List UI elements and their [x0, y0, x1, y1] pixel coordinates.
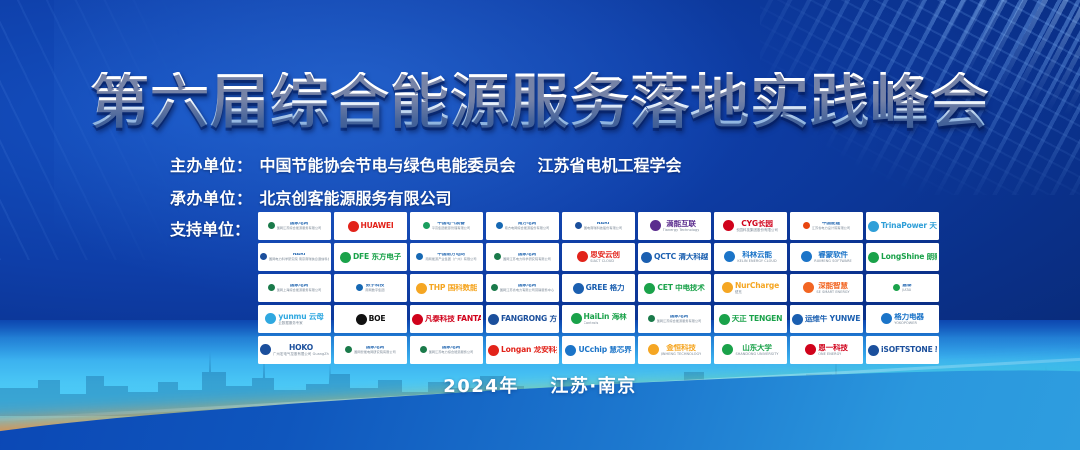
logo-body: 中国能建江苏省电力设计院有限公司 — [812, 222, 850, 231]
logo-name: 运维牛 YUNWEINIU — [805, 315, 861, 323]
logo-mark-icon — [488, 314, 499, 325]
logo-subtitle: 国网江苏电力综合能源服务公司 — [429, 350, 474, 354]
logo-body: 数字科技南网数字集团 — [365, 284, 384, 293]
logo-body: FANGRONG 方融科技 — [501, 315, 557, 323]
logo-body: 恩一科技ONE ENERGY — [818, 344, 848, 356]
logo-inner: 滴能互联Tianergy Technology — [650, 220, 700, 232]
logo-mark-icon — [575, 222, 582, 229]
logo-name: FANGRONG 方融科技 — [501, 315, 557, 323]
logo-name: LongShine 朗新 — [881, 253, 937, 261]
supporter-logo: 深能智慧SE SMART ENERGY — [790, 274, 863, 302]
supporter-logo: 国家电网国网上海综合能源服务有限公司 — [258, 274, 331, 302]
logo-inner: 格力电器YOKOPOWER — [881, 313, 924, 325]
logo-body: DFE 东方电子 — [353, 253, 401, 261]
supporter-logo: UCchip 慧芯界 — [562, 336, 635, 364]
logo-body: 中国电气装备平高集团能源管理有限公司 — [432, 222, 470, 231]
logo-name: 凡泰科技 FANTAI — [425, 315, 481, 323]
page-title: 第六届综合能源服务落地实践峰会 — [90, 72, 990, 131]
logo-body: 国家电网国网江苏电力科学研究院有限公司 — [503, 253, 551, 262]
info-row-values: 北京创客能源服务有限公司 — [260, 185, 452, 209]
logo-name: 科林云能 — [737, 251, 776, 259]
logo-name: 恩一科技 — [818, 344, 848, 352]
supporter-logo: 运维牛 YUNWEINIU — [790, 305, 863, 333]
supporter-logo: GREE 格力 — [562, 274, 635, 302]
logo-inner: THP 国科数能 — [416, 283, 478, 294]
logo-mark-icon — [412, 314, 423, 325]
logo-subtitle: Tianergy Technology — [663, 228, 700, 232]
logo-subtitle: 国电南瑞科技股份有限公司 — [584, 226, 622, 230]
logo-subtitle: SE SMART ENERGY — [816, 290, 849, 294]
logo-inner: 国家电网国网江苏综合能源服务有限公司 — [268, 222, 322, 231]
logo-inner: CYG长园长园科技集团股份有限公司 — [723, 220, 778, 232]
logo-mark-icon — [868, 252, 879, 263]
supporter-logo: NARI国网电力科学研究院 南京南瑞信息通信科技有限公司 — [258, 243, 331, 271]
logo-name: 格力电器 — [894, 313, 924, 321]
logo-body: 凡泰科技 FANTAI — [425, 315, 481, 323]
logo-mark-icon — [420, 346, 427, 353]
logo-name: 金恒科技 — [661, 344, 702, 352]
logo-subtitle: RUIMENG SOFTWARE — [814, 259, 852, 263]
supporter-logo: 山东大学SHANDONG UNIVERSITY — [714, 336, 787, 364]
logo-mark-icon — [868, 345, 879, 356]
logo-mark-icon — [722, 344, 733, 355]
logo-body: 运维牛 YUNWEINIU — [805, 315, 861, 323]
logo-inner: 中国能建江苏省电力设计院有限公司 — [803, 222, 850, 231]
info-row-label: 主办单位： — [170, 152, 253, 176]
logo-subtitle: KELIN ENERGY CLOUD — [737, 259, 776, 263]
logo-inner: HOKO广州宏电气控股有限公司 GuangZhou HOKO Electric … — [260, 344, 329, 356]
logo-mark-icon — [488, 345, 499, 356]
supporter-logo: iSOFTSTONE 软通动力 — [866, 336, 939, 364]
supporter-logo: 中国南方电网南网能源产业集团（广州）有限公司 — [410, 243, 483, 271]
logo-inner: NARI国网电力科学研究院 南京南瑞信息通信科技有限公司 — [260, 253, 329, 262]
logo-name: HOKO — [273, 344, 329, 352]
logo-inner: 数字科技南网数字集团 — [356, 284, 384, 293]
logo-inner: 山东大学SHANDONG UNIVERSITY — [722, 344, 778, 356]
logo-mark-icon — [803, 222, 810, 229]
supporter-logo: HaiLin 海林Controls — [562, 305, 635, 333]
logo-body: HOKO广州宏电气控股有限公司 GuangZhou HOKO Electric … — [273, 344, 329, 356]
logo-mark-icon — [648, 344, 659, 355]
logo-inner: iSOFTSTONE 软通动力 — [868, 345, 937, 356]
supporter-logo: 嘉泰JIATAI — [866, 274, 939, 302]
logo-body: 中国南方电网南网能源产业集团（广州）有限公司 — [425, 253, 476, 262]
logo-body: TrinaPower 天合富家 — [881, 222, 937, 230]
supporter-logo-grid: 国家电网国网江苏综合能源服务有限公司HUAWEI中国电气装备平高集团能源管理有限… — [258, 212, 939, 364]
logo-body: CYG长园长园科技集团股份有限公司 — [736, 220, 778, 232]
logo-name: yunmu 云母 — [278, 313, 323, 321]
logo-inner: HaiLin 海林Controls — [571, 313, 627, 325]
logo-mark-icon — [260, 253, 267, 260]
logo-inner: 天正 TENGEN — [719, 314, 783, 325]
logo-body: UCchip 慧芯界 — [578, 346, 631, 354]
logo-name: HaiLin 海林 — [584, 313, 627, 321]
supporter-logo: 国家电网国网江苏电力综合能源服务公司 — [410, 336, 483, 364]
logo-body: 深能智慧SE SMART ENERGY — [816, 282, 849, 294]
supporter-logo: 国家电网国网江苏综合能源服务有限公司 — [258, 212, 331, 240]
logo-mark-icon — [719, 314, 730, 325]
supporter-logo: QCTC 清大科越 — [638, 243, 711, 271]
logo-mark-icon — [348, 221, 359, 232]
logo-body: GREE 格力 — [586, 284, 625, 292]
logo-inner: TrinaPower 天合富家 — [868, 221, 937, 232]
logo-body: 国家电网国网江苏电力综合能源服务公司 — [429, 346, 474, 355]
logo-inner: 金恒科技JINHENG TECHNOLOGY — [648, 344, 702, 356]
logo-mark-icon — [803, 282, 814, 293]
logo-body: 国家电网国网江苏综合能源服务有限公司 — [657, 315, 702, 324]
logo-name: BOE — [369, 315, 386, 323]
logo-mark-icon — [268, 284, 275, 291]
logo-inner: CET 中电技术 — [644, 283, 704, 294]
logo-body: 国家电网国网江苏省电力有限公司营销服务中心 — [500, 284, 554, 293]
logo-mark-icon — [724, 251, 735, 262]
logo-inner: 国家电网国网上海综合能源服务有限公司 — [268, 284, 322, 293]
logo-subtitle: 广州宏电气控股有限公司 GuangZhou HOKO Electric Co.,… — [273, 352, 329, 356]
supporter-logo: 格力电器YOKOPOWER — [866, 305, 939, 333]
logo-mark-icon — [416, 283, 427, 294]
logo-body: yunmu 云母云数据服务专家 — [278, 313, 323, 325]
supporter-logo: NARI国电南瑞科技股份有限公司 — [562, 212, 635, 240]
logo-body: 天正 TENGEN — [732, 315, 783, 323]
supporter-logo: 思安云创SIACT CLOUD — [562, 243, 635, 271]
supporter-logo: 金恒科技JINHENG TECHNOLOGY — [638, 336, 711, 364]
logo-inner: 中国电气装备平高集团能源管理有限公司 — [423, 222, 470, 231]
logo-name: THP 国科数能 — [429, 284, 478, 292]
logo-body: BOE — [369, 315, 386, 323]
logo-inner: 国家电网国网智能电网研究院有限公司 — [345, 346, 396, 355]
info-value: 江苏省电机工程学会 — [538, 152, 682, 176]
supporter-logo: Longan 龙安科技 — [486, 336, 559, 364]
logo-subtitle: ONE ENERGY — [818, 352, 848, 356]
logo-inner: FANGRONG 方融科技 — [488, 314, 557, 325]
logo-inner: 国家电网国网江苏电力综合能源服务公司 — [420, 346, 474, 355]
logo-name: 山东大学 — [735, 344, 778, 352]
logo-mark-icon — [805, 344, 816, 355]
logo-inner: 国家电网国网江苏电力科学研究院有限公司 — [494, 253, 551, 262]
title-container: 第六届综合能源服务落地实践峰会 — [0, 72, 1080, 131]
logo-mark-icon — [868, 221, 879, 232]
logo-mark-icon — [494, 253, 501, 260]
logo-name: 睿蒙软件 — [814, 251, 852, 259]
logo-body: 国家电网国网上海综合能源服务有限公司 — [277, 284, 322, 293]
logo-body: NurCharge纽充 — [735, 282, 779, 294]
supporter-logo: 国家电网国网江苏电力科学研究院有限公司 — [486, 243, 559, 271]
logo-mark-icon — [260, 344, 271, 355]
logo-name: GREE 格力 — [586, 284, 625, 292]
logo-inner: LongShine 朗新 — [868, 252, 937, 263]
logo-mark-icon — [881, 313, 892, 324]
supporter-logo: 恩一科技ONE ENERGY — [790, 336, 863, 364]
supporter-logo: 国家电网国网智能电网研究院有限公司 — [334, 336, 407, 364]
logo-name: 滴能互联 — [663, 220, 700, 228]
logo-subtitle: SIACT CLOUD — [590, 259, 620, 263]
logo-subtitle: Controls — [584, 321, 627, 325]
logo-body: 科林云能KELIN ENERGY CLOUD — [737, 251, 776, 263]
logo-name: iSOFTSTONE 软通动力 — [881, 346, 937, 354]
logo-body: QCTC 清大科越 — [654, 253, 708, 261]
logo-name: 思安云创 — [590, 251, 620, 259]
logo-body: 格力电器YOKOPOWER — [894, 313, 924, 325]
supporter-logo: 中国电气装备平高集团能源管理有限公司 — [410, 212, 483, 240]
supporter-logo: 睿蒙软件RUIMENG SOFTWARE — [790, 243, 863, 271]
logo-mark-icon — [268, 222, 275, 229]
supporter-logo: LongShine 朗新 — [866, 243, 939, 271]
logo-inner: 嘉泰JIATAI — [893, 284, 911, 293]
logo-mark-icon — [577, 251, 588, 262]
logo-body: 嘉泰JIATAI — [902, 284, 911, 293]
logo-name: 天正 TENGEN — [732, 315, 783, 323]
logo-subtitle: 南网数字集团 — [365, 288, 384, 292]
logo-inner: GREE 格力 — [573, 283, 625, 294]
logo-body: 山东大学SHANDONG UNIVERSITY — [735, 344, 778, 356]
logo-name: TrinaPower 天合富家 — [881, 222, 937, 230]
logo-subtitle: 国网江苏综合能源服务有限公司 — [657, 319, 702, 323]
logo-subtitle: 国网上海综合能源服务有限公司 — [277, 288, 322, 292]
logo-mark-icon — [641, 252, 652, 263]
logo-inner: QCTC 清大科越 — [641, 252, 708, 263]
footer-location: 江苏·南京 — [550, 376, 636, 397]
logo-body: NARI国电南瑞科技股份有限公司 — [584, 222, 622, 231]
logo-body: 金恒科技JINHENG TECHNOLOGY — [661, 344, 702, 356]
logo-mark-icon — [650, 220, 661, 231]
info-row-label: 承办单位： — [170, 185, 253, 209]
supporter-logo: CYG长园长园科技集团股份有限公司 — [714, 212, 787, 240]
logo-mark-icon — [573, 283, 584, 294]
logo-inner: 思安云创SIACT CLOUD — [577, 251, 620, 263]
logo-body: HaiLin 海林Controls — [584, 313, 627, 325]
logo-inner: BOE — [356, 314, 386, 325]
logo-mark-icon — [345, 346, 352, 353]
logo-mark-icon — [644, 283, 655, 294]
logo-inner: NARI国电南瑞科技股份有限公司 — [575, 222, 622, 231]
logo-inner: HUAWEI — [348, 221, 394, 232]
logo-name: CET 中电技术 — [657, 284, 704, 292]
logo-name: QCTC 清大科越 — [654, 253, 708, 261]
logo-inner: 恩一科技ONE ENERGY — [805, 344, 848, 356]
logo-mark-icon — [648, 315, 655, 322]
logo-inner: NurCharge纽充 — [722, 282, 779, 294]
logo-subtitle: 国网智能电网研究院有限公司 — [354, 350, 396, 354]
logo-body: 睿蒙软件RUIMENG SOFTWARE — [814, 251, 852, 263]
supporter-logo: 数字科技南网数字集团 — [334, 274, 407, 302]
supporter-logo: 中国能建江苏省电力设计院有限公司 — [790, 212, 863, 240]
supporter-logo: NurCharge纽充 — [714, 274, 787, 302]
event-footer: 2024年 江苏·南京 — [0, 372, 1080, 398]
logo-inner: 深能智慧SE SMART ENERGY — [803, 282, 849, 294]
logo-inner: DFE 东方电子 — [340, 252, 401, 263]
logo-subtitle: JINHENG TECHNOLOGY — [661, 352, 702, 356]
logo-mark-icon — [356, 284, 363, 291]
supporters-section: 支持单位： 国家电网国网江苏综合能源服务有限公司HUAWEI中国电气装备平高集团… — [170, 212, 939, 364]
logo-name: CYG长园 — [736, 220, 778, 228]
supporter-logo: 天正 TENGEN — [714, 305, 787, 333]
logo-mark-icon — [356, 314, 367, 325]
logo-inner: 睿蒙软件RUIMENG SOFTWARE — [801, 251, 852, 263]
logo-subtitle: 长园科技集团股份有限公司 — [736, 228, 778, 232]
logo-mark-icon — [723, 220, 734, 231]
logo-body: Longan 龙安科技 — [501, 346, 557, 354]
logo-inner: UCchip 慧芯界 — [565, 345, 631, 356]
logo-body: THP 国科数能 — [429, 284, 478, 292]
logo-inner: 运维牛 YUNWEINIU — [792, 314, 861, 325]
summit-banner: 第六届综合能源服务落地实践峰会 主办单位：中国节能协会节电与绿色电能委员会江苏省… — [0, 0, 1080, 450]
logo-subtitle: JIATAI — [902, 288, 911, 292]
logo-subtitle: 国网江苏电力科学研究院有限公司 — [503, 257, 551, 261]
logo-inner: Longan 龙安科技 — [488, 345, 557, 356]
logo-inner: 科林云能KELIN ENERGY CLOUD — [724, 251, 776, 263]
supporter-logo: BOE — [334, 305, 407, 333]
logo-name: 深能智慧 — [816, 282, 849, 290]
logo-inner: 凡泰科技 FANTAI — [412, 314, 481, 325]
logo-subtitle: YOKOPOWER — [894, 321, 924, 325]
logo-name: HUAWEI — [361, 222, 394, 230]
logo-mark-icon — [340, 252, 351, 263]
logo-subtitle: 南方电网综合能源股份有限公司 — [505, 226, 550, 230]
logo-body: 滴能互联Tianergy Technology — [663, 220, 700, 232]
logo-body: LongShine 朗新 — [881, 253, 937, 261]
logo-mark-icon — [801, 251, 812, 262]
logo-body: 南方电网南方电网综合能源股份有限公司 — [505, 222, 550, 231]
info-value: 北京创客能源服务有限公司 — [260, 185, 452, 209]
logo-subtitle: 纽充 — [735, 290, 779, 294]
info-row: 主办单位：中国节能协会节电与绿色电能委员会江苏省电机工程学会 — [170, 152, 682, 176]
info-row-values: 中国节能协会节电与绿色电能委员会江苏省电机工程学会 — [260, 152, 682, 176]
logo-subtitle: 国网江苏省电力有限公司营销服务中心 — [500, 288, 554, 292]
info-row: 承办单位：北京创客能源服务有限公司 — [170, 185, 682, 209]
logo-inner: 国家电网国网江苏综合能源服务有限公司 — [648, 315, 702, 324]
logo-mark-icon — [496, 222, 503, 229]
logo-body: 国家电网国网江苏综合能源服务有限公司 — [277, 222, 322, 231]
supporter-logo: 国家电网国网江苏综合能源服务有限公司 — [638, 305, 711, 333]
logo-body: 思安云创SIACT CLOUD — [590, 251, 620, 263]
logo-subtitle: SHANDONG UNIVERSITY — [735, 352, 778, 356]
logo-mark-icon — [792, 314, 803, 325]
supporter-logo: 凡泰科技 FANTAI — [410, 305, 483, 333]
supporter-logo: yunmu 云母云数据服务专家 — [258, 305, 331, 333]
supporter-logo: DFE 东方电子 — [334, 243, 407, 271]
supporter-logo: CET 中电技术 — [638, 274, 711, 302]
logo-mark-icon — [722, 282, 733, 293]
supporter-logo: HOKO广州宏电气控股有限公司 GuangZhou HOKO Electric … — [258, 336, 331, 364]
logo-subtitle: 平高集团能源管理有限公司 — [432, 226, 470, 230]
supporter-logo: THP 国科数能 — [410, 274, 483, 302]
logo-body: iSOFTSTONE 软通动力 — [881, 346, 937, 354]
logo-name: NurCharge — [735, 282, 779, 290]
logo-name: Longan 龙安科技 — [501, 346, 557, 354]
logo-name: DFE 东方电子 — [353, 253, 401, 261]
logo-inner: 南方电网南方电网综合能源股份有限公司 — [496, 222, 550, 231]
logo-name: UCchip 慧芯界 — [578, 346, 631, 354]
logo-mark-icon — [893, 284, 900, 291]
supporter-logo: FANGRONG 方融科技 — [486, 305, 559, 333]
logo-inner: yunmu 云母云数据服务专家 — [265, 313, 323, 325]
logo-mark-icon — [491, 284, 498, 291]
footer-year: 2024年 — [443, 376, 519, 397]
logo-subtitle: 江苏省电力设计院有限公司 — [812, 226, 850, 230]
logo-mark-icon — [565, 345, 576, 356]
logo-subtitle: 南网能源产业集团（广州）有限公司 — [425, 257, 476, 261]
supporter-logo: 滴能互联Tianergy Technology — [638, 212, 711, 240]
logo-body: HUAWEI — [361, 222, 394, 230]
logo-inner: 国家电网国网江苏省电力有限公司营销服务中心 — [491, 284, 554, 293]
logo-subtitle: 国网江苏综合能源服务有限公司 — [277, 226, 322, 230]
logo-mark-icon — [571, 313, 582, 324]
supporter-logo: TrinaPower 天合富家 — [866, 212, 939, 240]
logo-mark-icon — [265, 313, 276, 324]
logo-inner: 中国南方电网南网能源产业集团（广州）有限公司 — [416, 253, 476, 262]
supporter-logo: HUAWEI — [334, 212, 407, 240]
supporter-logo: 科林云能KELIN ENERGY CLOUD — [714, 243, 787, 271]
supporter-logo: 国家电网国网江苏省电力有限公司营销服务中心 — [486, 274, 559, 302]
logo-body: NARI国网电力科学研究院 南京南瑞信息通信科技有限公司 — [269, 253, 329, 262]
logo-mark-icon — [423, 222, 430, 229]
supporters-label: 支持单位： — [170, 212, 250, 240]
supporter-logo: 南方电网南方电网综合能源股份有限公司 — [486, 212, 559, 240]
logo-subtitle: 国网电力科学研究院 南京南瑞信息通信科技有限公司 — [269, 257, 329, 261]
logo-body: 国家电网国网智能电网研究院有限公司 — [354, 346, 396, 355]
organizer-info: 主办单位：中国节能协会节电与绿色电能委员会江苏省电机工程学会承办单位：北京创客能… — [170, 152, 682, 218]
info-value: 中国节能协会节电与绿色电能委员会 — [260, 152, 516, 176]
logo-body: CET 中电技术 — [657, 284, 704, 292]
logo-mark-icon — [416, 253, 423, 260]
logo-subtitle: 云数据服务专家 — [278, 321, 323, 325]
